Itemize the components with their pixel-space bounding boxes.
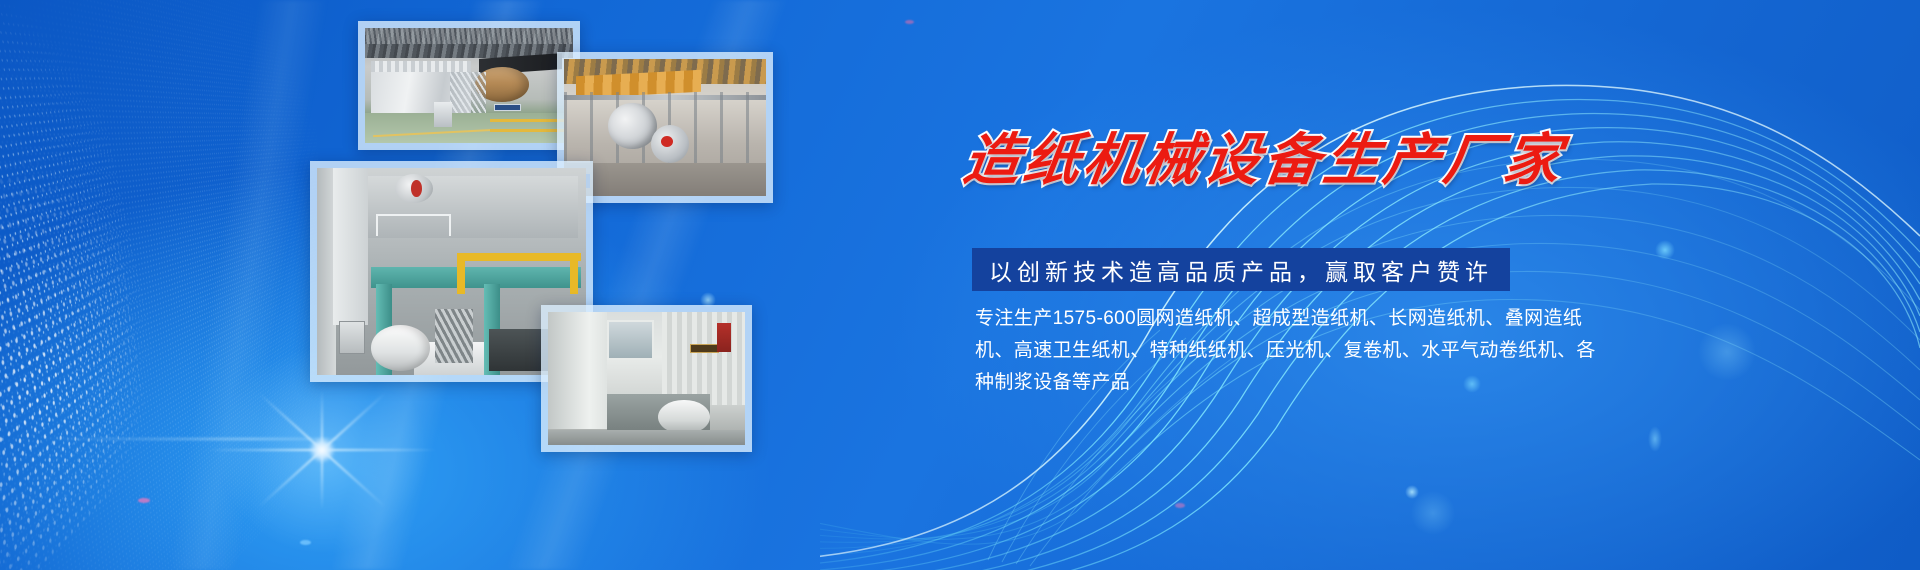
sparkle-dot [1175,503,1185,508]
sparkle-dot [300,540,311,545]
banner-description: 专注生产1575-600圆网造纸机、超成型造纸机、长网造纸机、叠网造纸 机、高速… [975,303,1575,399]
photo-finished-paper-workshop [541,305,752,452]
bokeh-circle [1410,490,1456,536]
lens-flare-streak [40,438,340,440]
banner-subtitle-bar: 以创新技术造高品质产品，赢取客户赞许 [972,248,1510,291]
lens-flare-starburst [262,390,382,510]
led-dot-matrix-fine [0,0,338,570]
bokeh-circle [1648,426,1662,452]
banner-subtitle: 以创新技术造高品质产品，赢取客户赞许 [989,253,1493,287]
led-dot-matrix-background [0,0,166,570]
bokeh-circle [1697,322,1757,382]
description-line-2: 机、高速卫生纸机、特种纸纸机、压光机、复卷机、水平气动卷纸机、各 [975,335,1575,367]
photo-paper-machine-hall [358,21,580,150]
banner-headline: 造纸机械设备生产厂家 [960,132,1568,188]
description-line-1: 专注生产1575-600圆网造纸机、超成型造纸机、长网造纸机、叠网造纸 [975,303,1575,335]
bokeh-circle [1655,240,1675,260]
sparkle-dot [905,20,914,24]
promo-banner: 造纸机械设备生产厂家 以创新技术造高品质产品，赢取客户赞许 专注生产1575-6… [0,0,1920,570]
bokeh-circle [1405,485,1419,499]
led-dot-matrix-bright [0,114,152,570]
sparkle-dot [138,498,150,503]
description-line-3: 种制浆设备等产品 [975,367,1575,399]
